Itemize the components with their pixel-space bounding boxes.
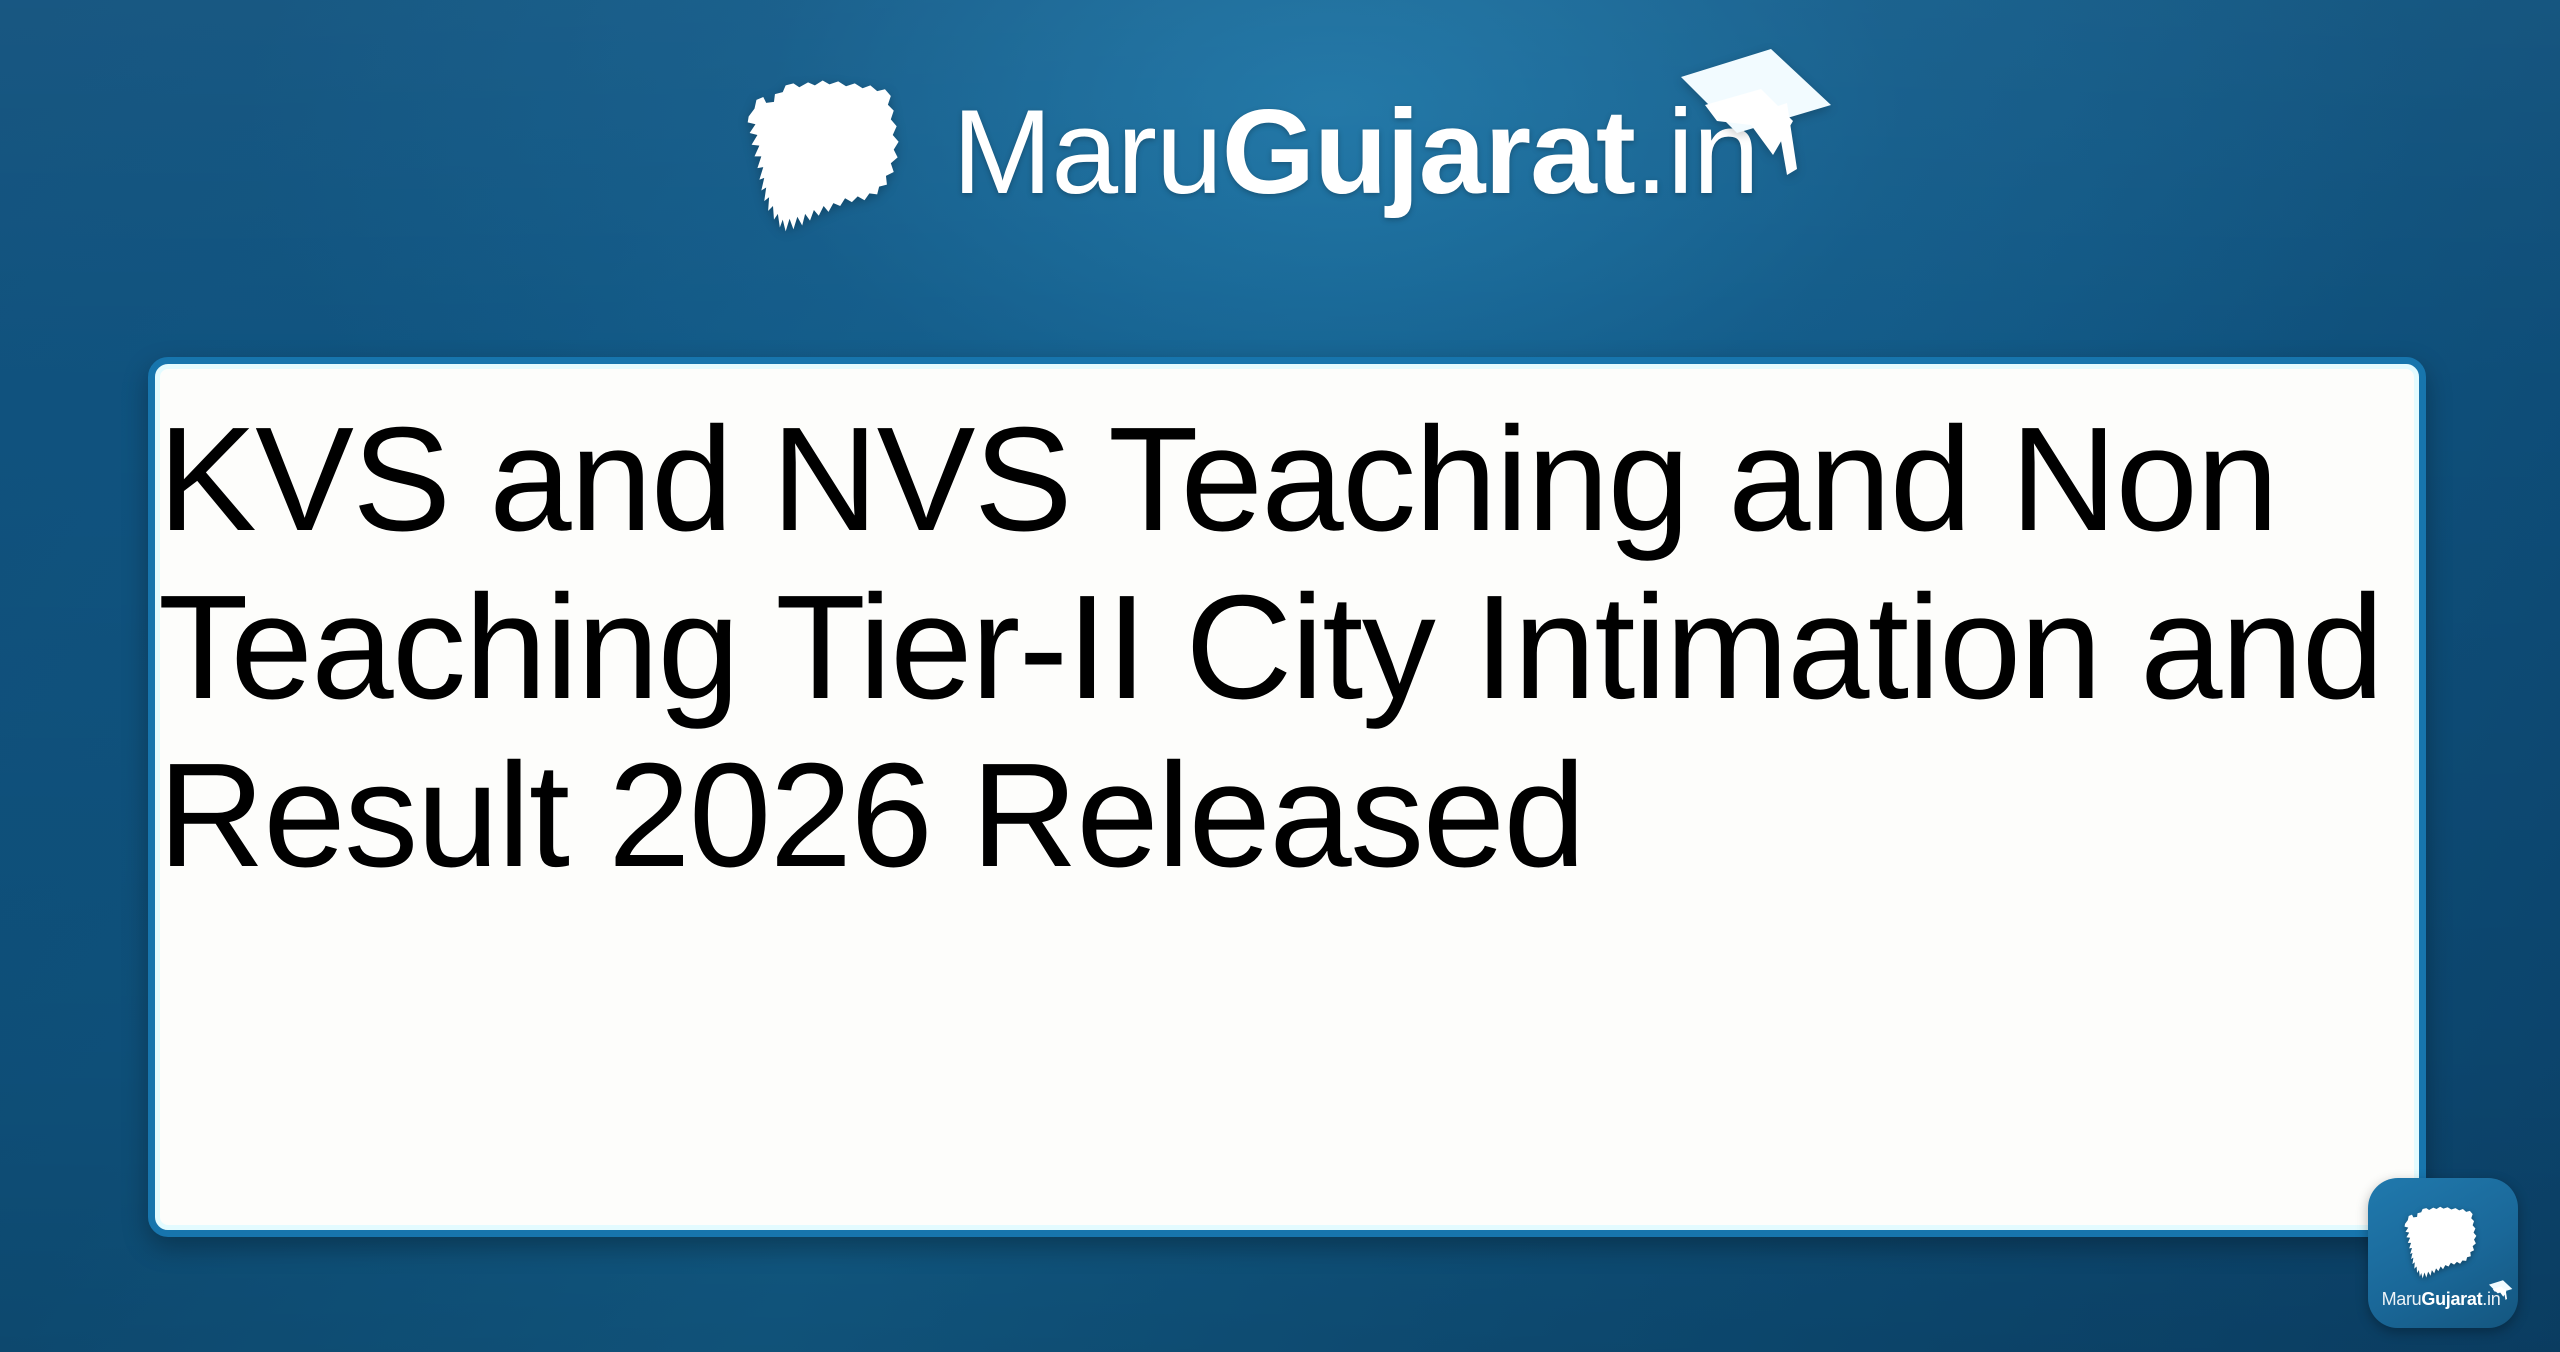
badge-maru: Maru (2382, 1289, 2422, 1310)
gujarat-map-icon (2394, 1197, 2492, 1285)
brand-wordmark: Maru Gujarat .in (952, 83, 1828, 221)
graduation-cap-icon (1675, 47, 1835, 182)
badge-wordmark: Maru Gujarat .in (2382, 1289, 2505, 1310)
page-background: Maru Gujarat .in KVS and NVS Teaching an… (0, 0, 2560, 1352)
brand-maru: Maru (952, 83, 1221, 221)
graduation-cap-icon (2488, 1280, 2513, 1301)
headline-title: KVS and NVS Teaching and Non Teaching Ti… (158, 396, 2488, 900)
site-logo[interactable]: Maru Gujarat .in (0, 52, 2560, 252)
badge-gujarat: Gujarat (2421, 1289, 2482, 1310)
watermark-badge[interactable]: Maru Gujarat .in (2368, 1178, 2518, 1328)
brand-gujarat: Gujarat (1222, 83, 1635, 221)
gujarat-map-icon (731, 60, 926, 245)
